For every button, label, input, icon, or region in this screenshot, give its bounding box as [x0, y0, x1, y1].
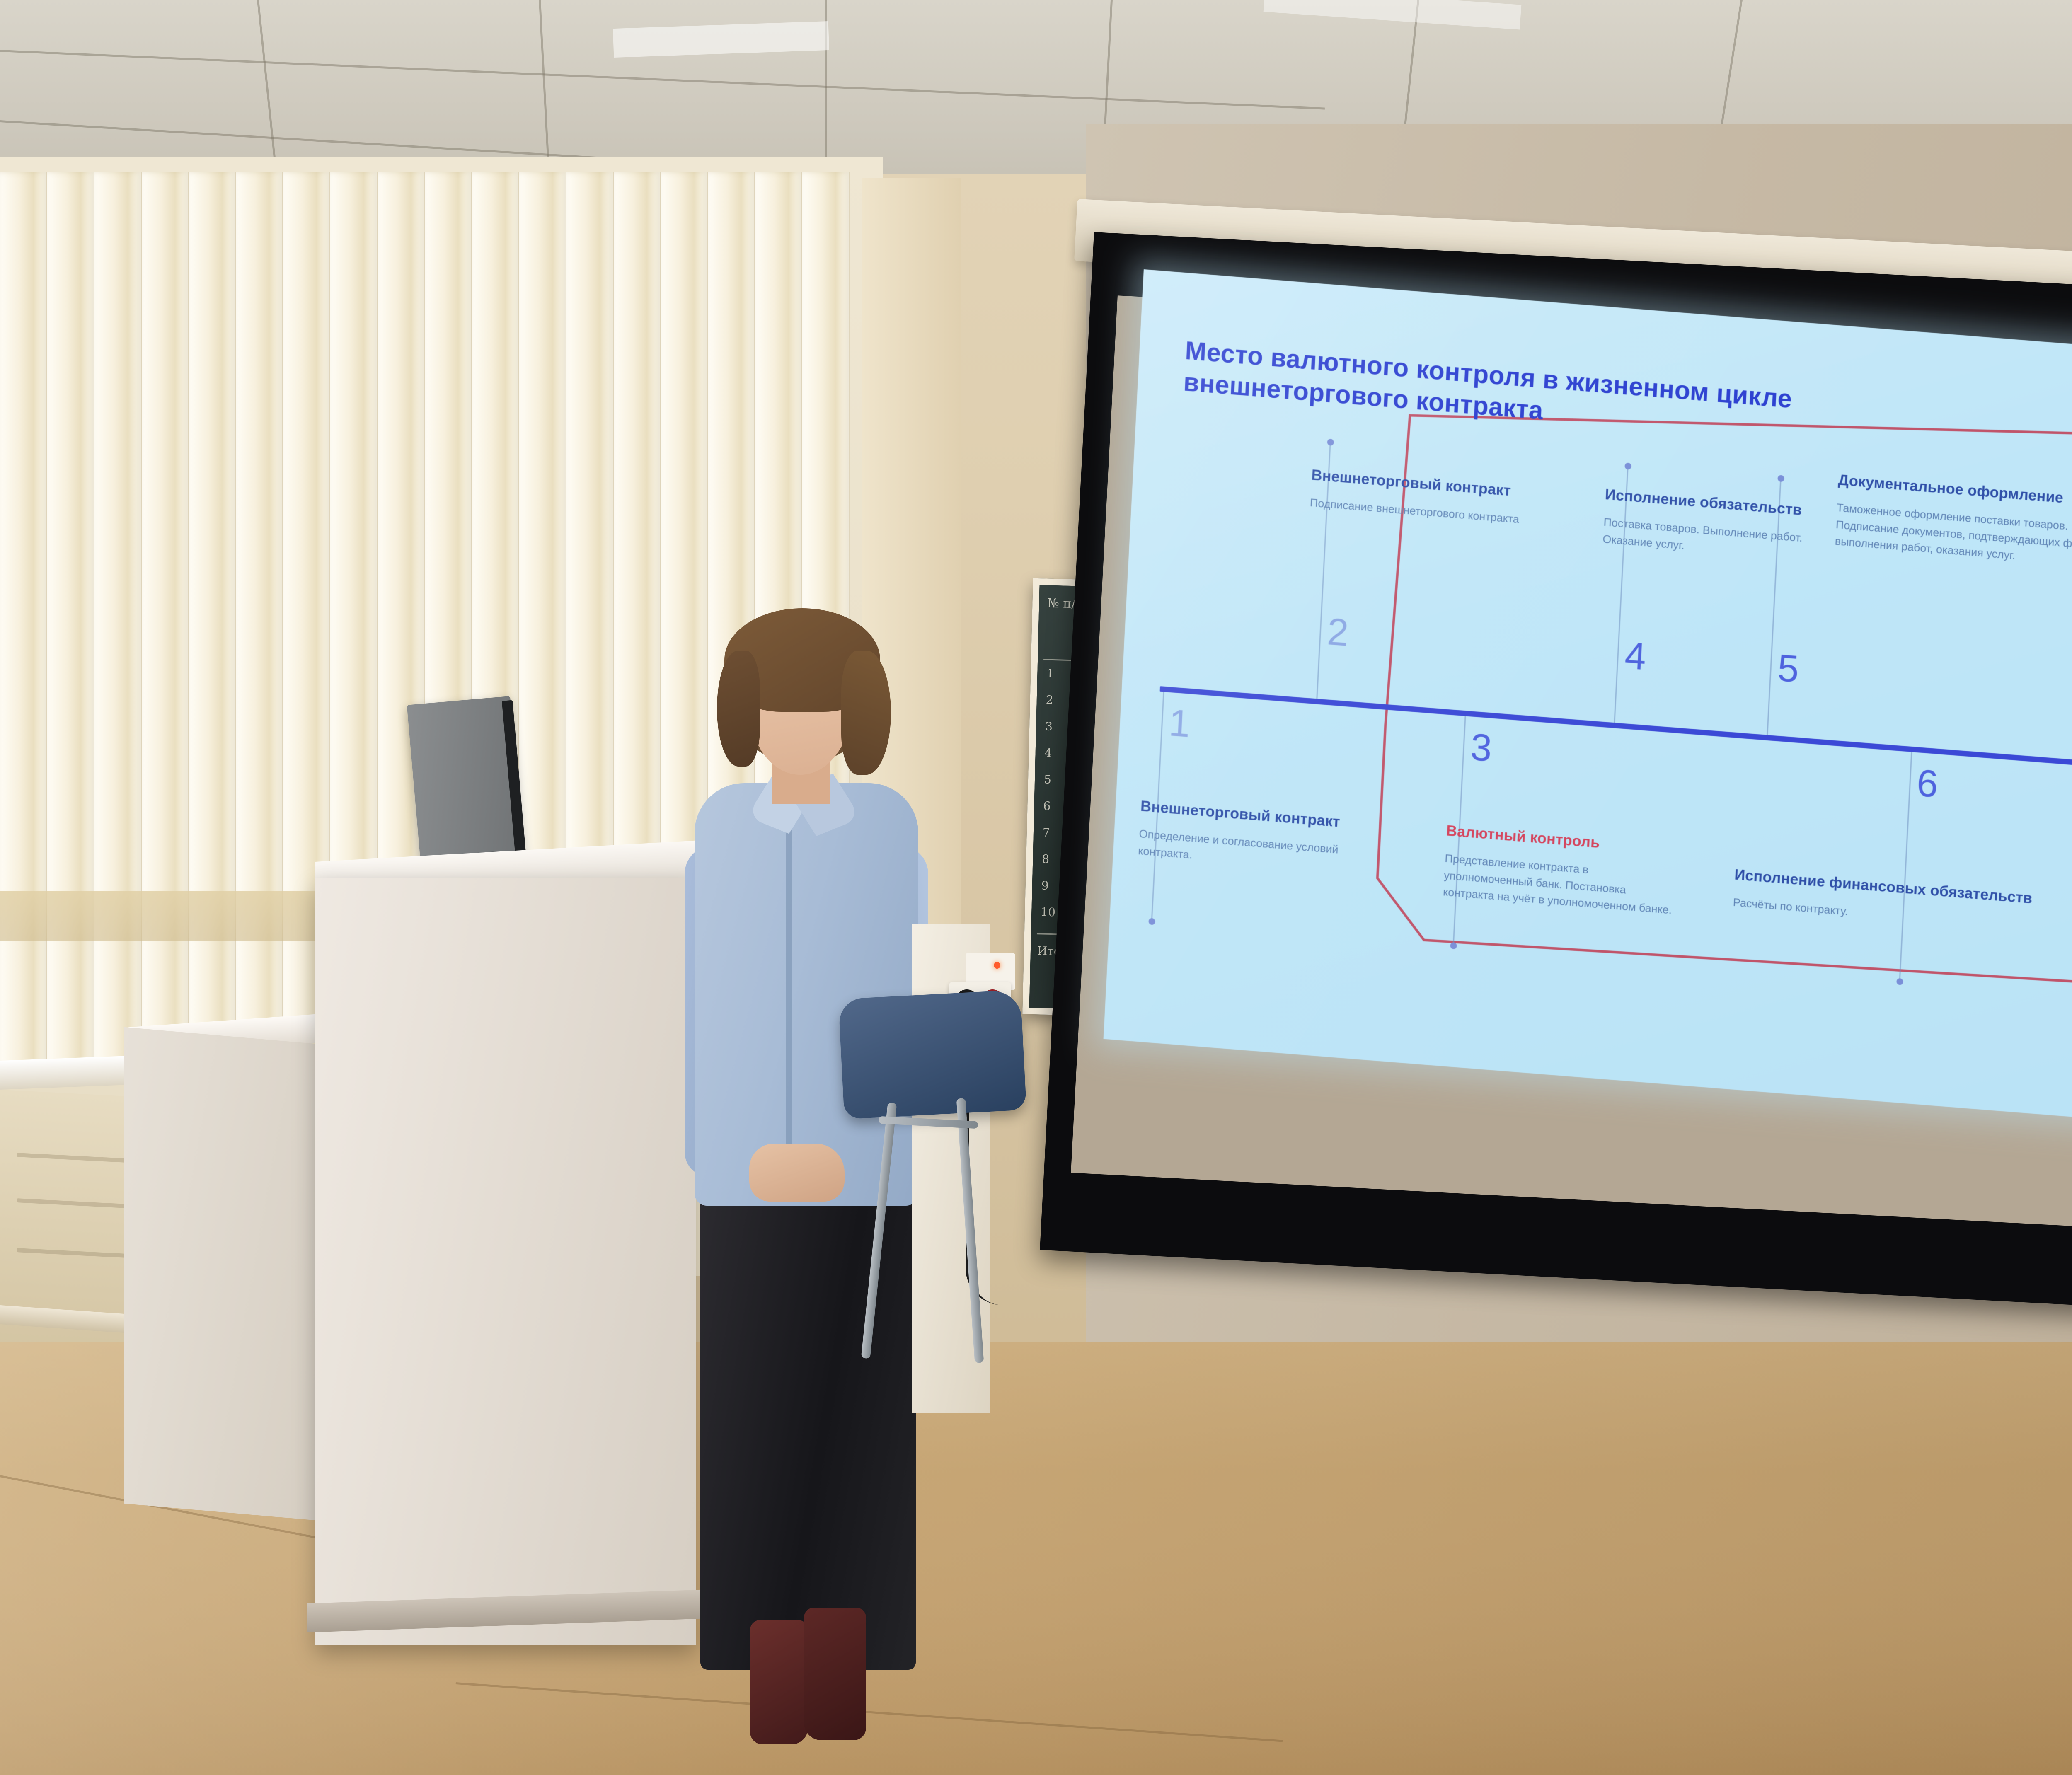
presenter-hair-side-left [717, 651, 760, 767]
lectern [315, 878, 696, 1645]
blue-chair-seat[interactable] [838, 990, 1027, 1120]
timeline-number-2: 2 [1326, 612, 1349, 652]
chalkboard-row-index: 7 [1043, 825, 1051, 839]
presenter-boot-right [804, 1608, 866, 1740]
timeline-tick-dot [1624, 462, 1631, 469]
presenter-skirt [700, 1193, 916, 1670]
podium-side-panel [124, 1027, 319, 1521]
step-block-3: Валютный контрольПредставление контракта… [1443, 821, 1678, 919]
timeline-tick-dot [1777, 475, 1784, 482]
chalkboard-row-index: 4 [1044, 746, 1052, 760]
switch-indicator-led [994, 962, 1000, 969]
step-title: Валютный контроль [1446, 821, 1678, 858]
chalkboard-row-index: 2 [1046, 693, 1053, 707]
chalkboard-row-index: 3 [1045, 720, 1053, 733]
timeline-tick-dot [1327, 439, 1334, 446]
step-block-4: Исполнение обязательствПоставка товаров.… [1602, 485, 1837, 566]
step-title: Исполнение обязательств [1605, 485, 1837, 522]
step-body: Определение и согласование условий контр… [1138, 825, 1371, 878]
timeline-tick-dot [1450, 942, 1457, 949]
presenter-hair-side-right [841, 651, 891, 775]
slide-title: Место валютного контроля в жизненном цик… [1183, 335, 1827, 449]
step-body: Поставка товаров. Выполнение работ. Оказ… [1602, 514, 1835, 566]
step-title: Внешнеторговый контракт [1140, 797, 1372, 833]
step-block-2: Внешнеторговый контрактПодписание внешне… [1310, 466, 1543, 530]
timeline-number-5: 5 [1777, 649, 1800, 689]
step-block-1: Внешнеторговый контрактОпределение и сог… [1138, 797, 1372, 878]
chalkboard-row-index: 8 [1042, 852, 1050, 866]
timeline-tick-line [1899, 752, 1912, 984]
timeline-number-3: 3 [1469, 728, 1493, 768]
chalkboard-row-index: 5 [1044, 773, 1052, 786]
timeline-tick-dot [1148, 918, 1155, 925]
step-body: Подписание внешнеторгового контракта [1310, 494, 1542, 530]
shirt-placket [786, 808, 792, 1181]
step-title: Внешнеторговый контракт [1311, 466, 1543, 502]
step-block-5: Документальное оформлениеТаможенное офор… [1835, 471, 2072, 571]
step-body: Таможенное оформление поставки товаров. … [1835, 499, 2072, 571]
timeline-number-1: 1 [1168, 704, 1191, 743]
presenter-hands [749, 1144, 845, 1202]
step-block-6: Исполнение финансовых обязательствРасчёт… [1733, 866, 2049, 936]
chalkboard-row-index: 9 [1041, 878, 1049, 892]
projected-slide: Место валютного контроля в жизненном цик… [1104, 269, 2072, 1127]
classroom-presentation-scene: № п/п Объём продаж, X 155258354454560666… [0, 0, 2072, 1775]
step-body: Представление контракта в уполномоченный… [1443, 850, 1677, 919]
chalkboard-row-index: 10 [1041, 905, 1055, 919]
timeline-number-4: 4 [1624, 636, 1647, 676]
presenter-boot-left [750, 1620, 808, 1744]
chalkboard-row-index: 1 [1046, 667, 1054, 680]
timeline-tick-dot [1896, 978, 1903, 985]
chalkboard-row-index: 6 [1043, 799, 1051, 813]
timeline-number-6: 6 [1916, 764, 1939, 803]
